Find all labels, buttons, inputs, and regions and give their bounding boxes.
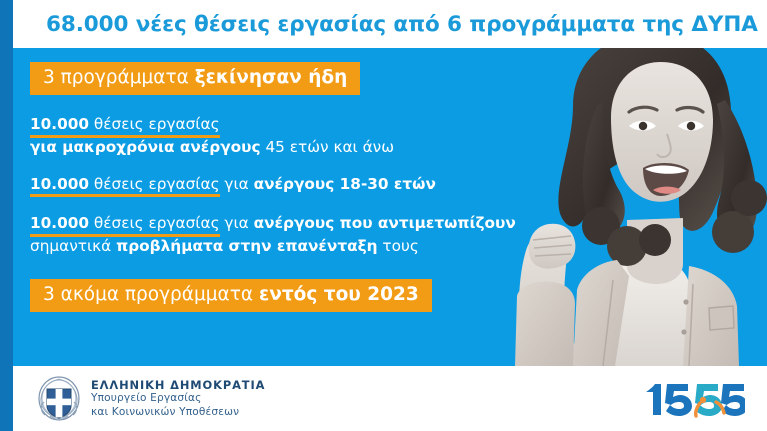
footer-band: ΕΛΛΗΝΙΚΗ ΔΗΜΟΚΡΑΤΙΑ Υπουργείο Εργασίας κ… xyxy=(13,366,767,431)
bullet-3-line1-text: θέσεις εργασίας xyxy=(89,214,220,232)
gov-ministry-line-2: και Κοινωνικών Υποθέσεων xyxy=(91,406,265,419)
bullet-list: 10.000 θέσεις εργασίας για μακροχρόνια α… xyxy=(30,114,543,256)
bullet-1-count: 10.000 xyxy=(30,115,89,133)
bullet-line: 10.000 θέσεις εργασίας για ανέργους 18-3… xyxy=(30,174,543,196)
bullet-2-count: 10.000 xyxy=(30,175,89,193)
bullet-3-tail-normal: για xyxy=(220,214,254,232)
underlined-phrase: 10.000 θέσεις εργασίας xyxy=(30,174,220,196)
bullet-line: 10.000 θέσεις εργασίας για ανέργους που … xyxy=(30,213,543,235)
badge-bottom-normal-text: 3 ακόμα προγράμματα xyxy=(43,284,259,305)
page-title: 68.000 νέες θέσεις εργασίας από 6 προγρά… xyxy=(46,12,758,37)
bullet-3-line2-normal2: τους xyxy=(378,237,419,255)
infographic-poster: 68.000 νέες θέσεις εργασίας από 6 προγρά… xyxy=(0,0,767,431)
bullet-line: 10.000 θέσεις εργασίας xyxy=(30,114,543,136)
badge-bottom-bold-text: εντός του 2023 xyxy=(259,284,419,305)
bullet-item: 10.000 θέσεις εργασίας για ανέργους 18-3… xyxy=(30,174,543,196)
badge-top-normal-text: 3 προγράμματα xyxy=(43,67,195,88)
bullet-line: σημαντικά προβλήματα στην επανένταξη του… xyxy=(30,236,543,256)
government-text: ΕΛΛΗΝΙΚΗ ΔΗΜΟΚΡΑΤΙΑ Υπουργείο Εργασίας κ… xyxy=(91,378,265,419)
bullet-3-tail-bold: ανέργους που αντιμετωπίζουν xyxy=(254,214,516,232)
bullet-1-line1-text: θέσεις εργασίας xyxy=(89,115,220,133)
bullet-3-count: 10.000 xyxy=(30,214,89,232)
badge-more-programs: 3 ακόμα προγράμματα εντός του 2023 xyxy=(30,279,432,312)
header-band: 68.000 νέες θέσεις εργασίας από 6 προγρά… xyxy=(13,0,767,48)
bullet-1-line2-bold: για μακροχρόνια ανέργους xyxy=(30,138,261,156)
gov-title: ΕΛΛΗΝΙΚΗ ΔΗΜΟΚΡΑΤΙΑ xyxy=(91,378,265,392)
bullet-item: 10.000 θέσεις εργασίας για μακροχρόνια α… xyxy=(30,114,543,157)
bullet-1-line2-text: 45 ετών και άνω xyxy=(261,138,394,156)
underlined-phrase: 10.000 θέσεις εργασίας xyxy=(30,213,220,235)
bullet-line: για μακροχρόνια ανέργους 45 ετών και άνω xyxy=(30,137,543,157)
bullet-2-tail-bold: ανέργους 18-30 ετών xyxy=(254,175,436,193)
hotline-1555-logo[interactable] xyxy=(639,379,745,419)
bullet-3-line2-normal: σημαντικά xyxy=(30,237,116,255)
badge-programs-started: 3 προγράμματα ξεκίνησαν ήδη xyxy=(30,62,360,95)
badge-top-bold-text: ξεκίνησαν ήδη xyxy=(195,67,348,88)
bullet-2-line1-text: θέσεις εργασίας xyxy=(89,175,220,193)
bullet-item: 10.000 θέσεις εργασίας για ανέργους που … xyxy=(30,213,543,256)
bullet-3-line2-bold: προβλήματα στην επανένταξη xyxy=(116,237,377,255)
main-content: 3 προγράμματα ξεκίνησαν ήδη 10.000 θέσει… xyxy=(13,48,543,366)
bullet-2-tail-normal: για xyxy=(220,175,254,193)
left-accent-strip xyxy=(0,0,13,431)
greek-coat-of-arms-icon xyxy=(38,376,80,421)
gov-ministry-line-1: Υπουργείο Εργασίας xyxy=(91,392,265,405)
government-branding: ΕΛΛΗΝΙΚΗ ΔΗΜΟΚΡΑΤΙΑ Υπουργείο Εργασίας κ… xyxy=(38,376,265,421)
underlined-phrase: 10.000 θέσεις εργασίας xyxy=(30,114,220,136)
